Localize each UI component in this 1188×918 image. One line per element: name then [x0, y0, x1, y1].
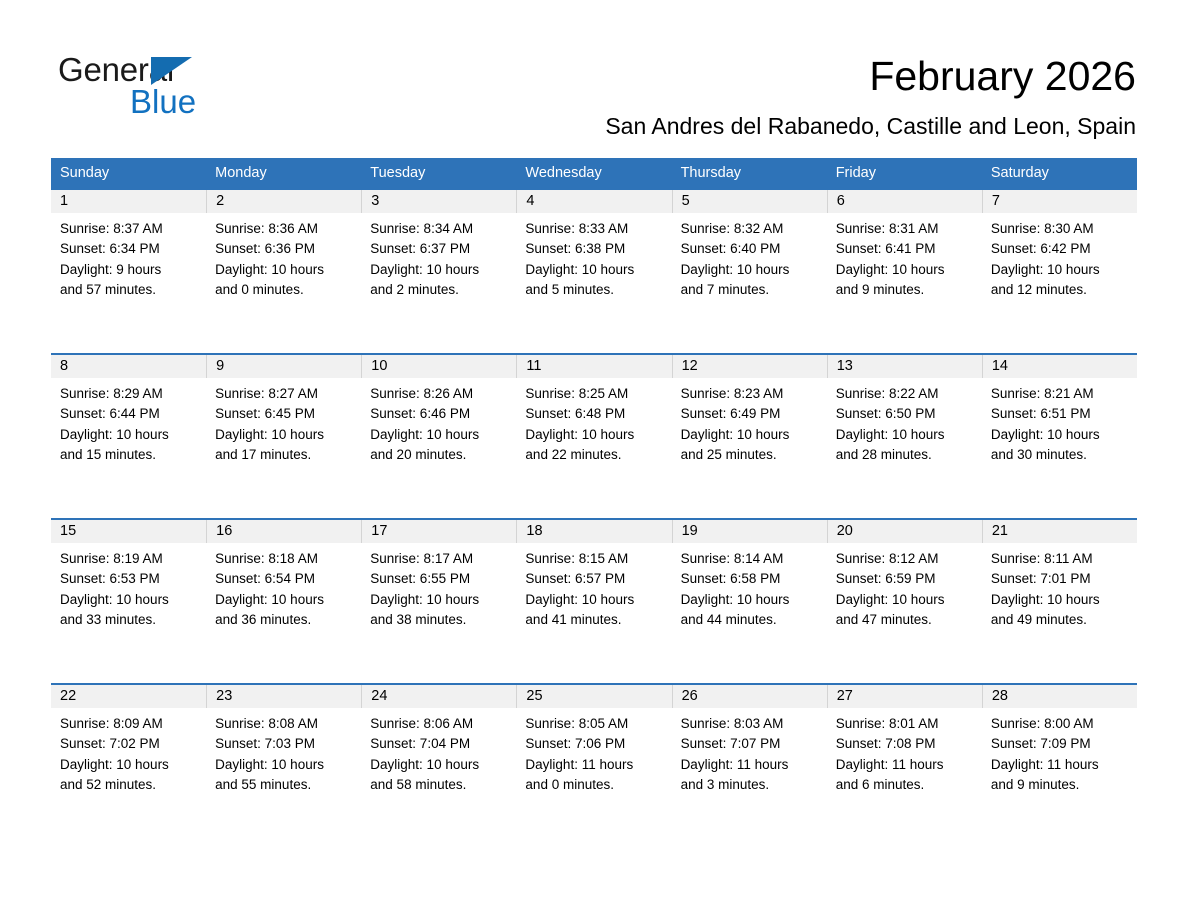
sunset-text: Sunset: 7:07 PM: [681, 734, 818, 754]
sunrise-text: Sunrise: 8:08 AM: [215, 714, 352, 734]
day-number: 14: [983, 355, 1137, 378]
day-number-bar: 11: [516, 355, 671, 378]
sunset-text: Sunset: 6:38 PM: [525, 239, 662, 259]
calendar-week-row: 8 Sunrise: 8:29 AM Sunset: 6:44 PM Dayli…: [51, 353, 1137, 518]
daylight-text-line1: Daylight: 11 hours: [681, 755, 818, 775]
day-number-bar: 1: [51, 190, 206, 213]
daylight-text-line2: and 7 minutes.: [681, 280, 818, 300]
sunrise-text: Sunrise: 8:09 AM: [60, 714, 197, 734]
sunrise-text: Sunrise: 8:32 AM: [681, 219, 818, 239]
daylight-text-line1: Daylight: 10 hours: [215, 425, 352, 445]
day-number-bar: 24: [361, 685, 516, 708]
sunset-text: Sunset: 6:46 PM: [370, 404, 507, 424]
day-number: 5: [673, 190, 827, 213]
day-number: 6: [828, 190, 982, 213]
day-details: Sunrise: 8:37 AM Sunset: 6:34 PM Dayligh…: [51, 213, 206, 301]
day-details: Sunrise: 8:23 AM Sunset: 6:49 PM Dayligh…: [672, 378, 827, 466]
calendar-day-cell[interactable]: 3 Sunrise: 8:34 AM Sunset: 6:37 PM Dayli…: [361, 190, 516, 353]
sunset-text: Sunset: 6:40 PM: [681, 239, 818, 259]
daylight-text-line1: Daylight: 10 hours: [60, 425, 197, 445]
day-number-bar: 20: [827, 520, 982, 543]
daylight-text-line2: and 30 minutes.: [991, 445, 1128, 465]
daylight-text-line1: Daylight: 10 hours: [60, 755, 197, 775]
weekday-header-saturday: Saturday: [982, 158, 1137, 188]
day-number: 24: [362, 685, 516, 708]
sunrise-text: Sunrise: 8:21 AM: [991, 384, 1128, 404]
calendar-day-cell[interactable]: 17 Sunrise: 8:17 AM Sunset: 6:55 PM Dayl…: [361, 520, 516, 683]
sunrise-text: Sunrise: 8:23 AM: [681, 384, 818, 404]
day-number-bar: 16: [206, 520, 361, 543]
weekday-header-row: Sunday Monday Tuesday Wednesday Thursday…: [51, 158, 1137, 188]
calendar-day-cell[interactable]: 22 Sunrise: 8:09 AM Sunset: 7:02 PM Dayl…: [51, 685, 206, 833]
calendar-day-cell[interactable]: 1 Sunrise: 8:37 AM Sunset: 6:34 PM Dayli…: [51, 190, 206, 353]
daylight-text-line1: Daylight: 10 hours: [525, 425, 662, 445]
calendar-day-cell[interactable]: 2 Sunrise: 8:36 AM Sunset: 6:36 PM Dayli…: [206, 190, 361, 353]
day-number-bar: 4: [516, 190, 671, 213]
day-number-bar: 18: [516, 520, 671, 543]
sunset-text: Sunset: 6:48 PM: [525, 404, 662, 424]
day-number: 15: [51, 520, 206, 543]
sunrise-text: Sunrise: 8:14 AM: [681, 549, 818, 569]
calendar-week-row: 22 Sunrise: 8:09 AM Sunset: 7:02 PM Dayl…: [51, 683, 1137, 833]
daylight-text-line2: and 36 minutes.: [215, 610, 352, 630]
sunset-text: Sunset: 7:06 PM: [525, 734, 662, 754]
daylight-text-line1: Daylight: 11 hours: [836, 755, 973, 775]
daylight-text-line2: and 3 minutes.: [681, 775, 818, 795]
day-number: 19: [673, 520, 827, 543]
daylight-text-line1: Daylight: 10 hours: [370, 755, 507, 775]
sunrise-text: Sunrise: 8:27 AM: [215, 384, 352, 404]
daylight-text-line1: Daylight: 10 hours: [215, 590, 352, 610]
daylight-text-line2: and 52 minutes.: [60, 775, 197, 795]
day-details: Sunrise: 8:34 AM Sunset: 6:37 PM Dayligh…: [361, 213, 516, 301]
sunrise-text: Sunrise: 8:22 AM: [836, 384, 973, 404]
daylight-text-line2: and 2 minutes.: [370, 280, 507, 300]
daylight-text-line2: and 28 minutes.: [836, 445, 973, 465]
daylight-text-line2: and 9 minutes.: [991, 775, 1128, 795]
sunset-text: Sunset: 6:41 PM: [836, 239, 973, 259]
sunrise-text: Sunrise: 8:33 AM: [525, 219, 662, 239]
day-number: 28: [983, 685, 1137, 708]
calendar-day-cell[interactable]: 26 Sunrise: 8:03 AM Sunset: 7:07 PM Dayl…: [672, 685, 827, 833]
calendar-day-cell[interactable]: 6 Sunrise: 8:31 AM Sunset: 6:41 PM Dayli…: [827, 190, 982, 353]
day-details: Sunrise: 8:30 AM Sunset: 6:42 PM Dayligh…: [982, 213, 1137, 301]
sunset-text: Sunset: 6:54 PM: [215, 569, 352, 589]
calendar-day-cell[interactable]: 24 Sunrise: 8:06 AM Sunset: 7:04 PM Dayl…: [361, 685, 516, 833]
day-number: 21: [983, 520, 1137, 543]
day-number: 8: [51, 355, 206, 378]
day-number: 4: [517, 190, 671, 213]
day-number-bar: 27: [827, 685, 982, 708]
day-details: Sunrise: 8:06 AM Sunset: 7:04 PM Dayligh…: [361, 708, 516, 796]
day-details: Sunrise: 8:33 AM Sunset: 6:38 PM Dayligh…: [516, 213, 671, 301]
sunset-text: Sunset: 6:53 PM: [60, 569, 197, 589]
calendar-day-cell[interactable]: 11 Sunrise: 8:25 AM Sunset: 6:48 PM Dayl…: [516, 355, 671, 518]
daylight-text-line2: and 6 minutes.: [836, 775, 973, 795]
calendar-day-cell[interactable]: 23 Sunrise: 8:08 AM Sunset: 7:03 PM Dayl…: [206, 685, 361, 833]
daylight-text-line1: Daylight: 10 hours: [370, 260, 507, 280]
sunrise-text: Sunrise: 8:36 AM: [215, 219, 352, 239]
day-number: 17: [362, 520, 516, 543]
calendar-day-cell[interactable]: 13 Sunrise: 8:22 AM Sunset: 6:50 PM Dayl…: [827, 355, 982, 518]
sunrise-text: Sunrise: 8:34 AM: [370, 219, 507, 239]
calendar-day-cell[interactable]: 25 Sunrise: 8:05 AM Sunset: 7:06 PM Dayl…: [516, 685, 671, 833]
sunrise-text: Sunrise: 8:05 AM: [525, 714, 662, 734]
daylight-text-line2: and 15 minutes.: [60, 445, 197, 465]
daylight-text-line2: and 5 minutes.: [525, 280, 662, 300]
day-number-bar: 13: [827, 355, 982, 378]
daylight-text-line1: Daylight: 10 hours: [991, 590, 1128, 610]
daylight-text-line2: and 47 minutes.: [836, 610, 973, 630]
day-number-bar: 22: [51, 685, 206, 708]
day-details: Sunrise: 8:36 AM Sunset: 6:36 PM Dayligh…: [206, 213, 361, 301]
day-details: Sunrise: 8:18 AM Sunset: 6:54 PM Dayligh…: [206, 543, 361, 631]
sunset-text: Sunset: 6:44 PM: [60, 404, 197, 424]
day-details: Sunrise: 8:25 AM Sunset: 6:48 PM Dayligh…: [516, 378, 671, 466]
sunrise-text: Sunrise: 8:29 AM: [60, 384, 197, 404]
sunset-text: Sunset: 6:45 PM: [215, 404, 352, 424]
sunrise-text: Sunrise: 8:03 AM: [681, 714, 818, 734]
calendar-day-cell[interactable]: 20 Sunrise: 8:12 AM Sunset: 6:59 PM Dayl…: [827, 520, 982, 683]
weekday-header-monday: Monday: [206, 158, 361, 188]
daylight-text-line2: and 25 minutes.: [681, 445, 818, 465]
day-details: Sunrise: 8:14 AM Sunset: 6:58 PM Dayligh…: [672, 543, 827, 631]
sunset-text: Sunset: 6:34 PM: [60, 239, 197, 259]
daylight-text-line2: and 33 minutes.: [60, 610, 197, 630]
sunrise-text: Sunrise: 8:37 AM: [60, 219, 197, 239]
sunset-text: Sunset: 6:42 PM: [991, 239, 1128, 259]
day-number: 11: [517, 355, 671, 378]
daylight-text-line2: and 38 minutes.: [370, 610, 507, 630]
daylight-text-line1: Daylight: 11 hours: [525, 755, 662, 775]
sunset-text: Sunset: 6:36 PM: [215, 239, 352, 259]
triangle-icon: [151, 57, 192, 85]
day-number: 7: [983, 190, 1137, 213]
day-number-bar: 2: [206, 190, 361, 213]
calendar-page: General Blue February 2026 San Andres de…: [0, 0, 1188, 918]
calendar-table: Sunday Monday Tuesday Wednesday Thursday…: [51, 158, 1137, 833]
day-details: Sunrise: 8:09 AM Sunset: 7:02 PM Dayligh…: [51, 708, 206, 796]
daylight-text-line1: Daylight: 10 hours: [370, 590, 507, 610]
logo-text-blue: Blue: [130, 84, 196, 120]
daylight-text-line2: and 55 minutes.: [215, 775, 352, 795]
day-details: Sunrise: 8:29 AM Sunset: 6:44 PM Dayligh…: [51, 378, 206, 466]
sunrise-text: Sunrise: 8:15 AM: [525, 549, 662, 569]
daylight-text-line2: and 41 minutes.: [525, 610, 662, 630]
calendar-day-cell[interactable]: 21 Sunrise: 8:11 AM Sunset: 7:01 PM Dayl…: [982, 520, 1137, 683]
daylight-text-line1: Daylight: 10 hours: [370, 425, 507, 445]
day-details: Sunrise: 8:01 AM Sunset: 7:08 PM Dayligh…: [827, 708, 982, 796]
day-details: Sunrise: 8:03 AM Sunset: 7:07 PM Dayligh…: [672, 708, 827, 796]
sunset-text: Sunset: 7:08 PM: [836, 734, 973, 754]
page-title: February 2026: [869, 52, 1136, 100]
daylight-text-line1: Daylight: 10 hours: [525, 590, 662, 610]
daylight-text-line2: and 44 minutes.: [681, 610, 818, 630]
calendar-day-cell[interactable]: 9 Sunrise: 8:27 AM Sunset: 6:45 PM Dayli…: [206, 355, 361, 518]
daylight-text-line2: and 0 minutes.: [525, 775, 662, 795]
day-details: Sunrise: 8:15 AM Sunset: 6:57 PM Dayligh…: [516, 543, 671, 631]
day-number: 23: [207, 685, 361, 708]
sunrise-text: Sunrise: 8:11 AM: [991, 549, 1128, 569]
daylight-text-line2: and 0 minutes.: [215, 280, 352, 300]
page-header: General Blue February 2026 San Andres de…: [0, 0, 1188, 150]
sunrise-text: Sunrise: 8:18 AM: [215, 549, 352, 569]
daylight-text-line1: Daylight: 10 hours: [215, 260, 352, 280]
day-details: Sunrise: 8:05 AM Sunset: 7:06 PM Dayligh…: [516, 708, 671, 796]
daylight-text-line2: and 22 minutes.: [525, 445, 662, 465]
daylight-text-line1: Daylight: 10 hours: [991, 425, 1128, 445]
daylight-text-line1: Daylight: 10 hours: [836, 590, 973, 610]
day-number-bar: 7: [982, 190, 1137, 213]
sunset-text: Sunset: 6:37 PM: [370, 239, 507, 259]
calendar-day-cell[interactable]: 16 Sunrise: 8:18 AM Sunset: 6:54 PM Dayl…: [206, 520, 361, 683]
day-details: Sunrise: 8:21 AM Sunset: 6:51 PM Dayligh…: [982, 378, 1137, 466]
day-number-bar: 8: [51, 355, 206, 378]
day-details: Sunrise: 8:22 AM Sunset: 6:50 PM Dayligh…: [827, 378, 982, 466]
daylight-text-line2: and 17 minutes.: [215, 445, 352, 465]
day-details: Sunrise: 8:08 AM Sunset: 7:03 PM Dayligh…: [206, 708, 361, 796]
calendar-day-cell[interactable]: 5 Sunrise: 8:32 AM Sunset: 6:40 PM Dayli…: [672, 190, 827, 353]
sunset-text: Sunset: 6:58 PM: [681, 569, 818, 589]
sunset-text: Sunset: 6:55 PM: [370, 569, 507, 589]
daylight-text-line1: Daylight: 10 hours: [60, 590, 197, 610]
weekday-header-friday: Friday: [827, 158, 982, 188]
sunset-text: Sunset: 7:02 PM: [60, 734, 197, 754]
day-number-bar: 25: [516, 685, 671, 708]
day-number: 3: [362, 190, 516, 213]
day-number-bar: 17: [361, 520, 516, 543]
calendar-day-cell[interactable]: 7 Sunrise: 8:30 AM Sunset: 6:42 PM Dayli…: [982, 190, 1137, 353]
day-number: 20: [828, 520, 982, 543]
day-number-bar: 28: [982, 685, 1137, 708]
daylight-text-line1: Daylight: 10 hours: [681, 425, 818, 445]
day-number-bar: 10: [361, 355, 516, 378]
day-number: 27: [828, 685, 982, 708]
sunset-text: Sunset: 6:57 PM: [525, 569, 662, 589]
sunrise-text: Sunrise: 8:00 AM: [991, 714, 1128, 734]
daylight-text-line2: and 20 minutes.: [370, 445, 507, 465]
calendar-day-cell[interactable]: 18 Sunrise: 8:15 AM Sunset: 6:57 PM Dayl…: [516, 520, 671, 683]
sunset-text: Sunset: 7:09 PM: [991, 734, 1128, 754]
daylight-text-line1: Daylight: 10 hours: [836, 260, 973, 280]
calendar-day-cell[interactable]: 4 Sunrise: 8:33 AM Sunset: 6:38 PM Dayli…: [516, 190, 671, 353]
day-details: Sunrise: 8:17 AM Sunset: 6:55 PM Dayligh…: [361, 543, 516, 631]
day-details: Sunrise: 8:19 AM Sunset: 6:53 PM Dayligh…: [51, 543, 206, 631]
day-number-bar: 12: [672, 355, 827, 378]
day-number-bar: 3: [361, 190, 516, 213]
sunset-text: Sunset: 7:04 PM: [370, 734, 507, 754]
day-number: 13: [828, 355, 982, 378]
weekday-header-wednesday: Wednesday: [516, 158, 671, 188]
daylight-text-line1: Daylight: 10 hours: [681, 590, 818, 610]
sunset-text: Sunset: 6:50 PM: [836, 404, 973, 424]
sunset-text: Sunset: 7:03 PM: [215, 734, 352, 754]
daylight-text-line2: and 12 minutes.: [991, 280, 1128, 300]
sunrise-text: Sunrise: 8:17 AM: [370, 549, 507, 569]
day-number: 1: [51, 190, 206, 213]
daylight-text-line1: Daylight: 10 hours: [836, 425, 973, 445]
sunrise-text: Sunrise: 8:19 AM: [60, 549, 197, 569]
sunrise-text: Sunrise: 8:01 AM: [836, 714, 973, 734]
calendar-day-cell[interactable]: 12 Sunrise: 8:23 AM Sunset: 6:49 PM Dayl…: [672, 355, 827, 518]
daylight-text-line2: and 57 minutes.: [60, 280, 197, 300]
weekday-header-sunday: Sunday: [51, 158, 206, 188]
sunset-text: Sunset: 6:59 PM: [836, 569, 973, 589]
day-number-bar: 21: [982, 520, 1137, 543]
day-number: 25: [517, 685, 671, 708]
calendar-day-cell[interactable]: 19 Sunrise: 8:14 AM Sunset: 6:58 PM Dayl…: [672, 520, 827, 683]
day-number: 22: [51, 685, 206, 708]
weekday-header-tuesday: Tuesday: [361, 158, 516, 188]
page-subtitle: San Andres del Rabanedo, Castille and Le…: [605, 112, 1136, 140]
day-number: 26: [673, 685, 827, 708]
day-details: Sunrise: 8:26 AM Sunset: 6:46 PM Dayligh…: [361, 378, 516, 466]
day-number-bar: 19: [672, 520, 827, 543]
calendar-day-cell[interactable]: 28 Sunrise: 8:00 AM Sunset: 7:09 PM Dayl…: [982, 685, 1137, 833]
day-number: 12: [673, 355, 827, 378]
day-number: 10: [362, 355, 516, 378]
daylight-text-line1: Daylight: 10 hours: [215, 755, 352, 775]
day-details: Sunrise: 8:31 AM Sunset: 6:41 PM Dayligh…: [827, 213, 982, 301]
daylight-text-line1: Daylight: 10 hours: [681, 260, 818, 280]
day-number-bar: 6: [827, 190, 982, 213]
sunrise-text: Sunrise: 8:30 AM: [991, 219, 1128, 239]
sunset-text: Sunset: 6:49 PM: [681, 404, 818, 424]
calendar-week-row: 1 Sunrise: 8:37 AM Sunset: 6:34 PM Dayli…: [51, 188, 1137, 353]
daylight-text-line2: and 49 minutes.: [991, 610, 1128, 630]
day-number-bar: 14: [982, 355, 1137, 378]
day-details: Sunrise: 8:00 AM Sunset: 7:09 PM Dayligh…: [982, 708, 1137, 796]
sunrise-text: Sunrise: 8:06 AM: [370, 714, 507, 734]
calendar-day-cell[interactable]: 10 Sunrise: 8:26 AM Sunset: 6:46 PM Dayl…: [361, 355, 516, 518]
sunset-text: Sunset: 6:51 PM: [991, 404, 1128, 424]
day-number: 18: [517, 520, 671, 543]
generalblue-logo[interactable]: General Blue: [58, 52, 318, 130]
day-details: Sunrise: 8:27 AM Sunset: 6:45 PM Dayligh…: [206, 378, 361, 466]
calendar-day-cell[interactable]: 27 Sunrise: 8:01 AM Sunset: 7:08 PM Dayl…: [827, 685, 982, 833]
day-number: 16: [207, 520, 361, 543]
day-number-bar: 15: [51, 520, 206, 543]
calendar-day-cell[interactable]: 8 Sunrise: 8:29 AM Sunset: 6:44 PM Dayli…: [51, 355, 206, 518]
sunrise-text: Sunrise: 8:26 AM: [370, 384, 507, 404]
sunrise-text: Sunrise: 8:31 AM: [836, 219, 973, 239]
day-number: 2: [207, 190, 361, 213]
calendar-day-cell[interactable]: 15 Sunrise: 8:19 AM Sunset: 6:53 PM Dayl…: [51, 520, 206, 683]
day-number-bar: 5: [672, 190, 827, 213]
daylight-text-line2: and 9 minutes.: [836, 280, 973, 300]
sunrise-text: Sunrise: 8:25 AM: [525, 384, 662, 404]
daylight-text-line1: Daylight: 10 hours: [991, 260, 1128, 280]
daylight-text-line1: Daylight: 11 hours: [991, 755, 1128, 775]
daylight-text-line1: Daylight: 10 hours: [525, 260, 662, 280]
day-number-bar: 9: [206, 355, 361, 378]
day-number-bar: 26: [672, 685, 827, 708]
day-number: 9: [207, 355, 361, 378]
sunset-text: Sunset: 7:01 PM: [991, 569, 1128, 589]
daylight-text-line1: Daylight: 9 hours: [60, 260, 197, 280]
day-details: Sunrise: 8:32 AM Sunset: 6:40 PM Dayligh…: [672, 213, 827, 301]
daylight-text-line2: and 58 minutes.: [370, 775, 507, 795]
calendar-day-cell[interactable]: 14 Sunrise: 8:21 AM Sunset: 6:51 PM Dayl…: [982, 355, 1137, 518]
day-number-bar: 23: [206, 685, 361, 708]
sunrise-text: Sunrise: 8:12 AM: [836, 549, 973, 569]
calendar-week-row: 15 Sunrise: 8:19 AM Sunset: 6:53 PM Dayl…: [51, 518, 1137, 683]
day-details: Sunrise: 8:12 AM Sunset: 6:59 PM Dayligh…: [827, 543, 982, 631]
day-details: Sunrise: 8:11 AM Sunset: 7:01 PM Dayligh…: [982, 543, 1137, 631]
weekday-header-thursday: Thursday: [672, 158, 827, 188]
